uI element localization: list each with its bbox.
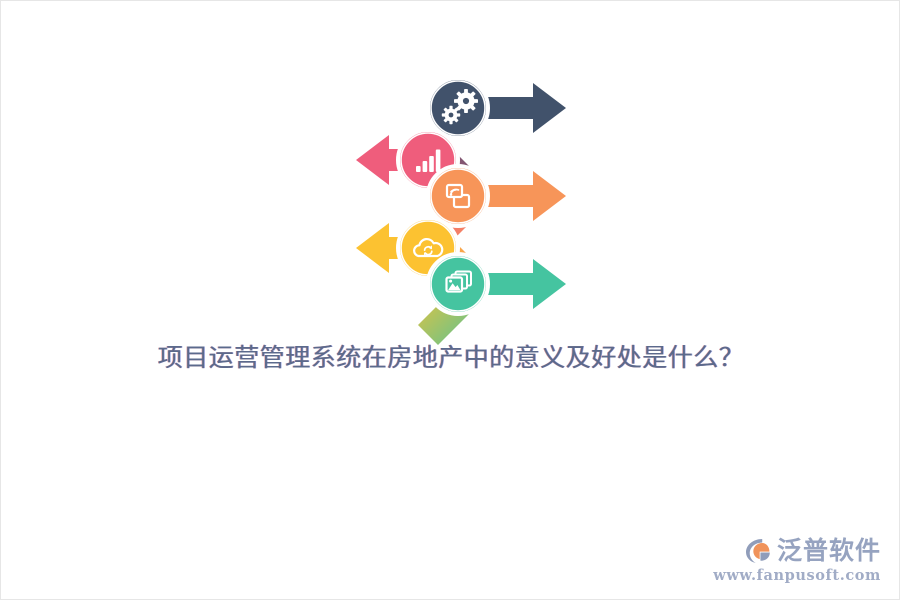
watermark-url: www.fanpusoft.com [713,569,881,584]
page-title: 项目运营管理系统在房地产中的意义及好处是什么？ [1,341,900,375]
watermark-brand-row: 泛普软件 [743,536,881,566]
fanpu-logo-icon [743,536,773,566]
fanpu-logo-inner-swoosh [760,552,769,560]
node-screen-cast[interactable] [428,166,566,226]
node-gears[interactable] [428,78,566,138]
page-root: 项目运营管理系统在房地产中的意义及好处是什么？ 泛普软件 www.fanpuso… [0,0,900,600]
watermark-brand-name: 泛普软件 [777,538,881,563]
infographic-svg [336,71,586,321]
node-photo-gallery[interactable] [428,254,566,314]
watermark: 泛普软件 www.fanpusoft.com [713,536,881,584]
infographic-graphic [336,71,586,321]
